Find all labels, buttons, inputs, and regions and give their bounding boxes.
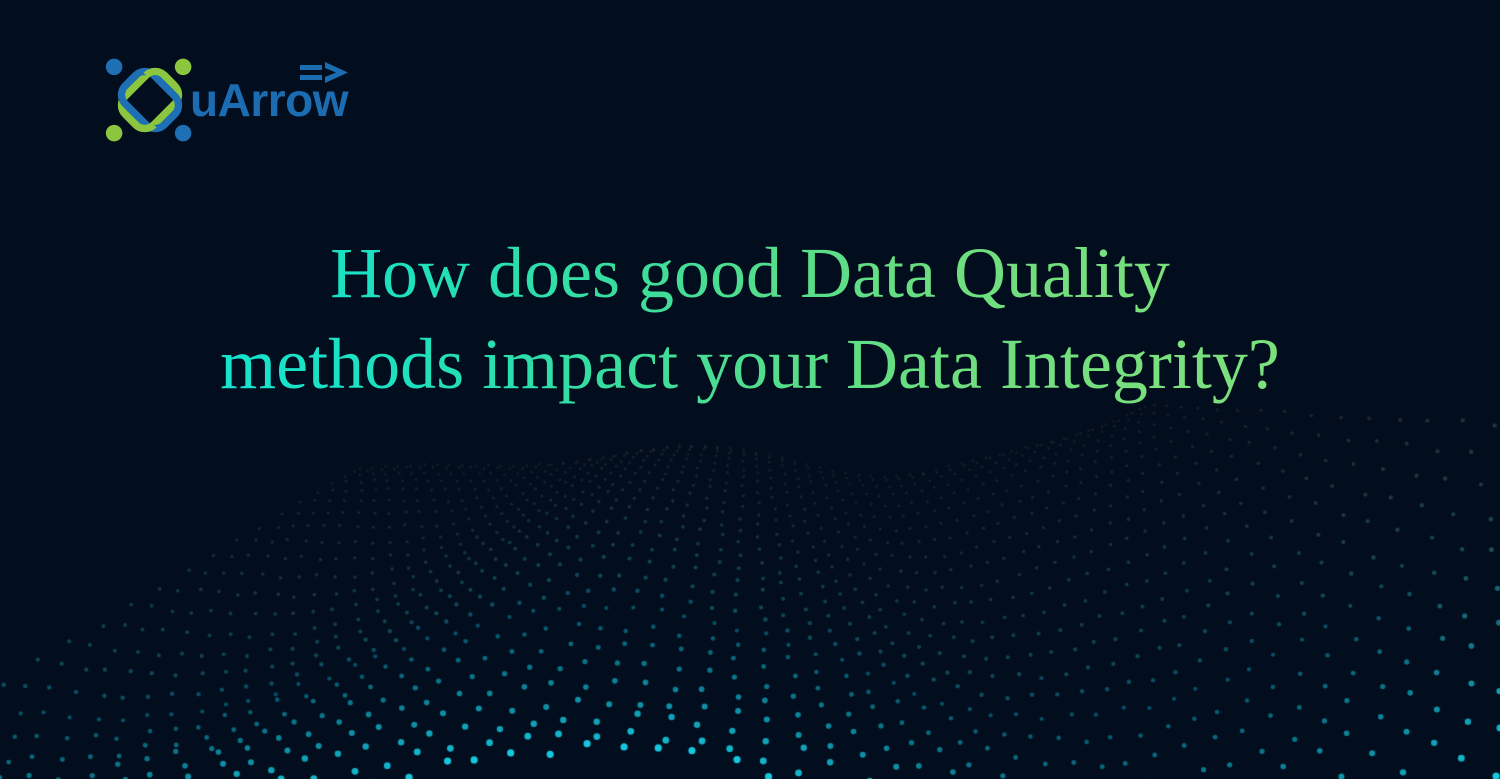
- logo-dot-top-right: [175, 59, 192, 76]
- logo-dot-top-left: [106, 59, 123, 76]
- presentation-slide: uArrow How does good Data Quality method…: [0, 0, 1500, 779]
- headline-line-2: methods impact your Data Integrity?: [0, 319, 1500, 410]
- brand-logo: uArrow: [104, 52, 344, 148]
- slide-headline: How does good Data Quality methods impac…: [0, 228, 1500, 409]
- uarrow-logo-mark-icon: [104, 54, 196, 146]
- logo-dot-bottom-left: [106, 125, 123, 142]
- double-arrow-icon: [298, 60, 350, 90]
- logo-dot-bottom-right: [175, 125, 192, 142]
- brand-wordmark-wrap: uArrow: [190, 54, 348, 146]
- headline-line-1: How does good Data Quality: [0, 228, 1500, 319]
